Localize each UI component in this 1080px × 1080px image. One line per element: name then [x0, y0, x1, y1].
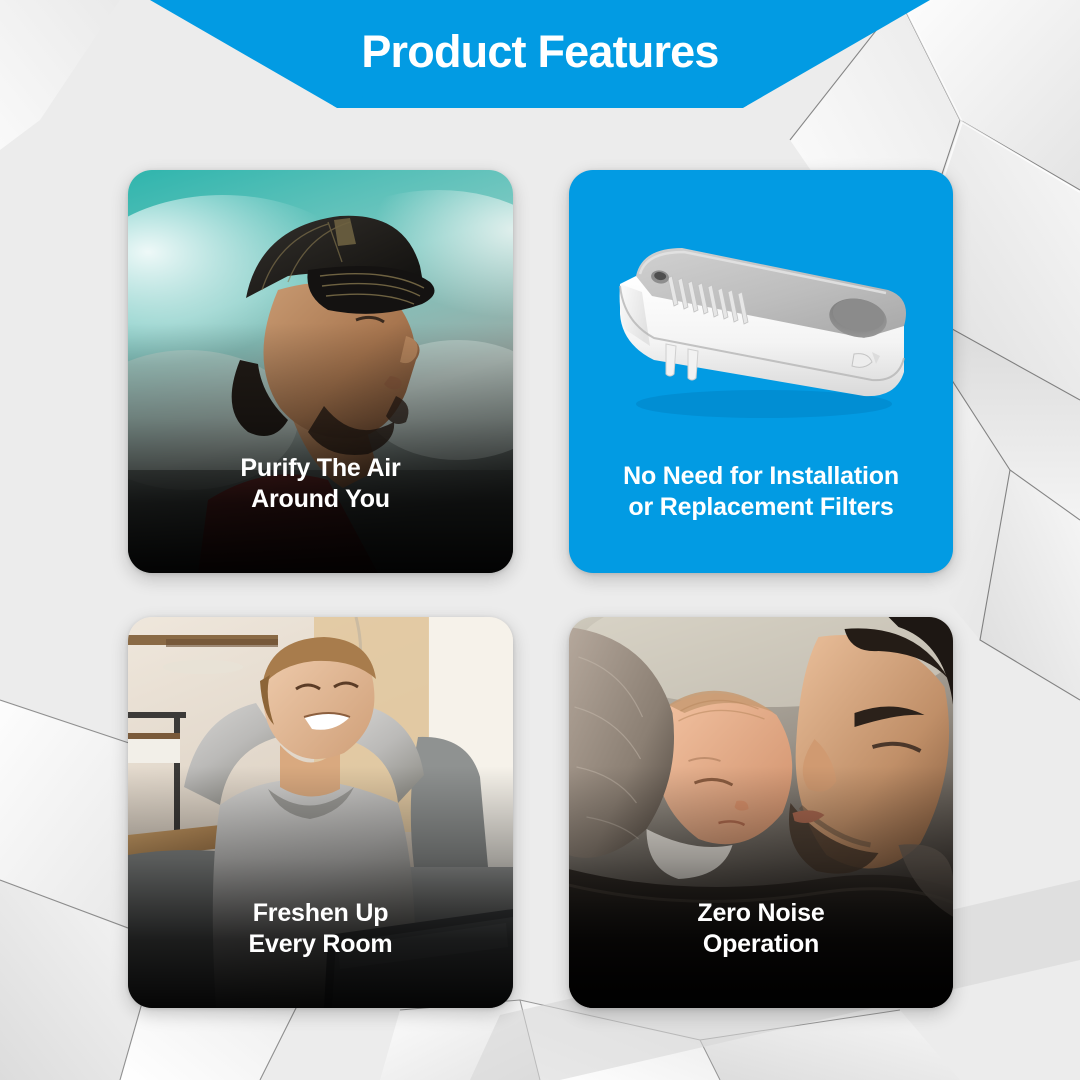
caption-line-1: No Need for Installation [583, 461, 939, 492]
feature-card-no-installation[interactable]: No Need for Installation or Replacement … [569, 170, 953, 573]
card-caption-zero-noise: Zero Noise Operation [569, 898, 953, 960]
product-device-image [569, 218, 953, 433]
caption-line-1: Freshen Up [142, 898, 499, 929]
card-caption-purify-the-air: Purify The Air Around You [128, 453, 513, 515]
feature-card-freshen-up[interactable]: Freshen Up Every Room [128, 617, 513, 1008]
caption-line-2: Every Room [142, 929, 499, 960]
page-title: Product Features [150, 0, 930, 108]
feature-card-grid: Purify The Air Around You [128, 170, 953, 1010]
product-features-poster: Product Features [0, 0, 1080, 1080]
caption-line-2: or Replacement Filters [583, 492, 939, 523]
feature-card-purify-the-air[interactable]: Purify The Air Around You [128, 170, 513, 573]
card-caption-freshen-up: Freshen Up Every Room [128, 898, 513, 960]
caption-line-1: Purify The Air [142, 453, 499, 484]
card-caption-no-installation: No Need for Installation or Replacement … [569, 461, 953, 523]
caption-line-2: Around You [142, 484, 499, 515]
caption-line-1: Zero Noise [583, 898, 939, 929]
caption-line-2: Operation [583, 929, 939, 960]
feature-card-zero-noise[interactable]: Zero Noise Operation [569, 617, 953, 1008]
